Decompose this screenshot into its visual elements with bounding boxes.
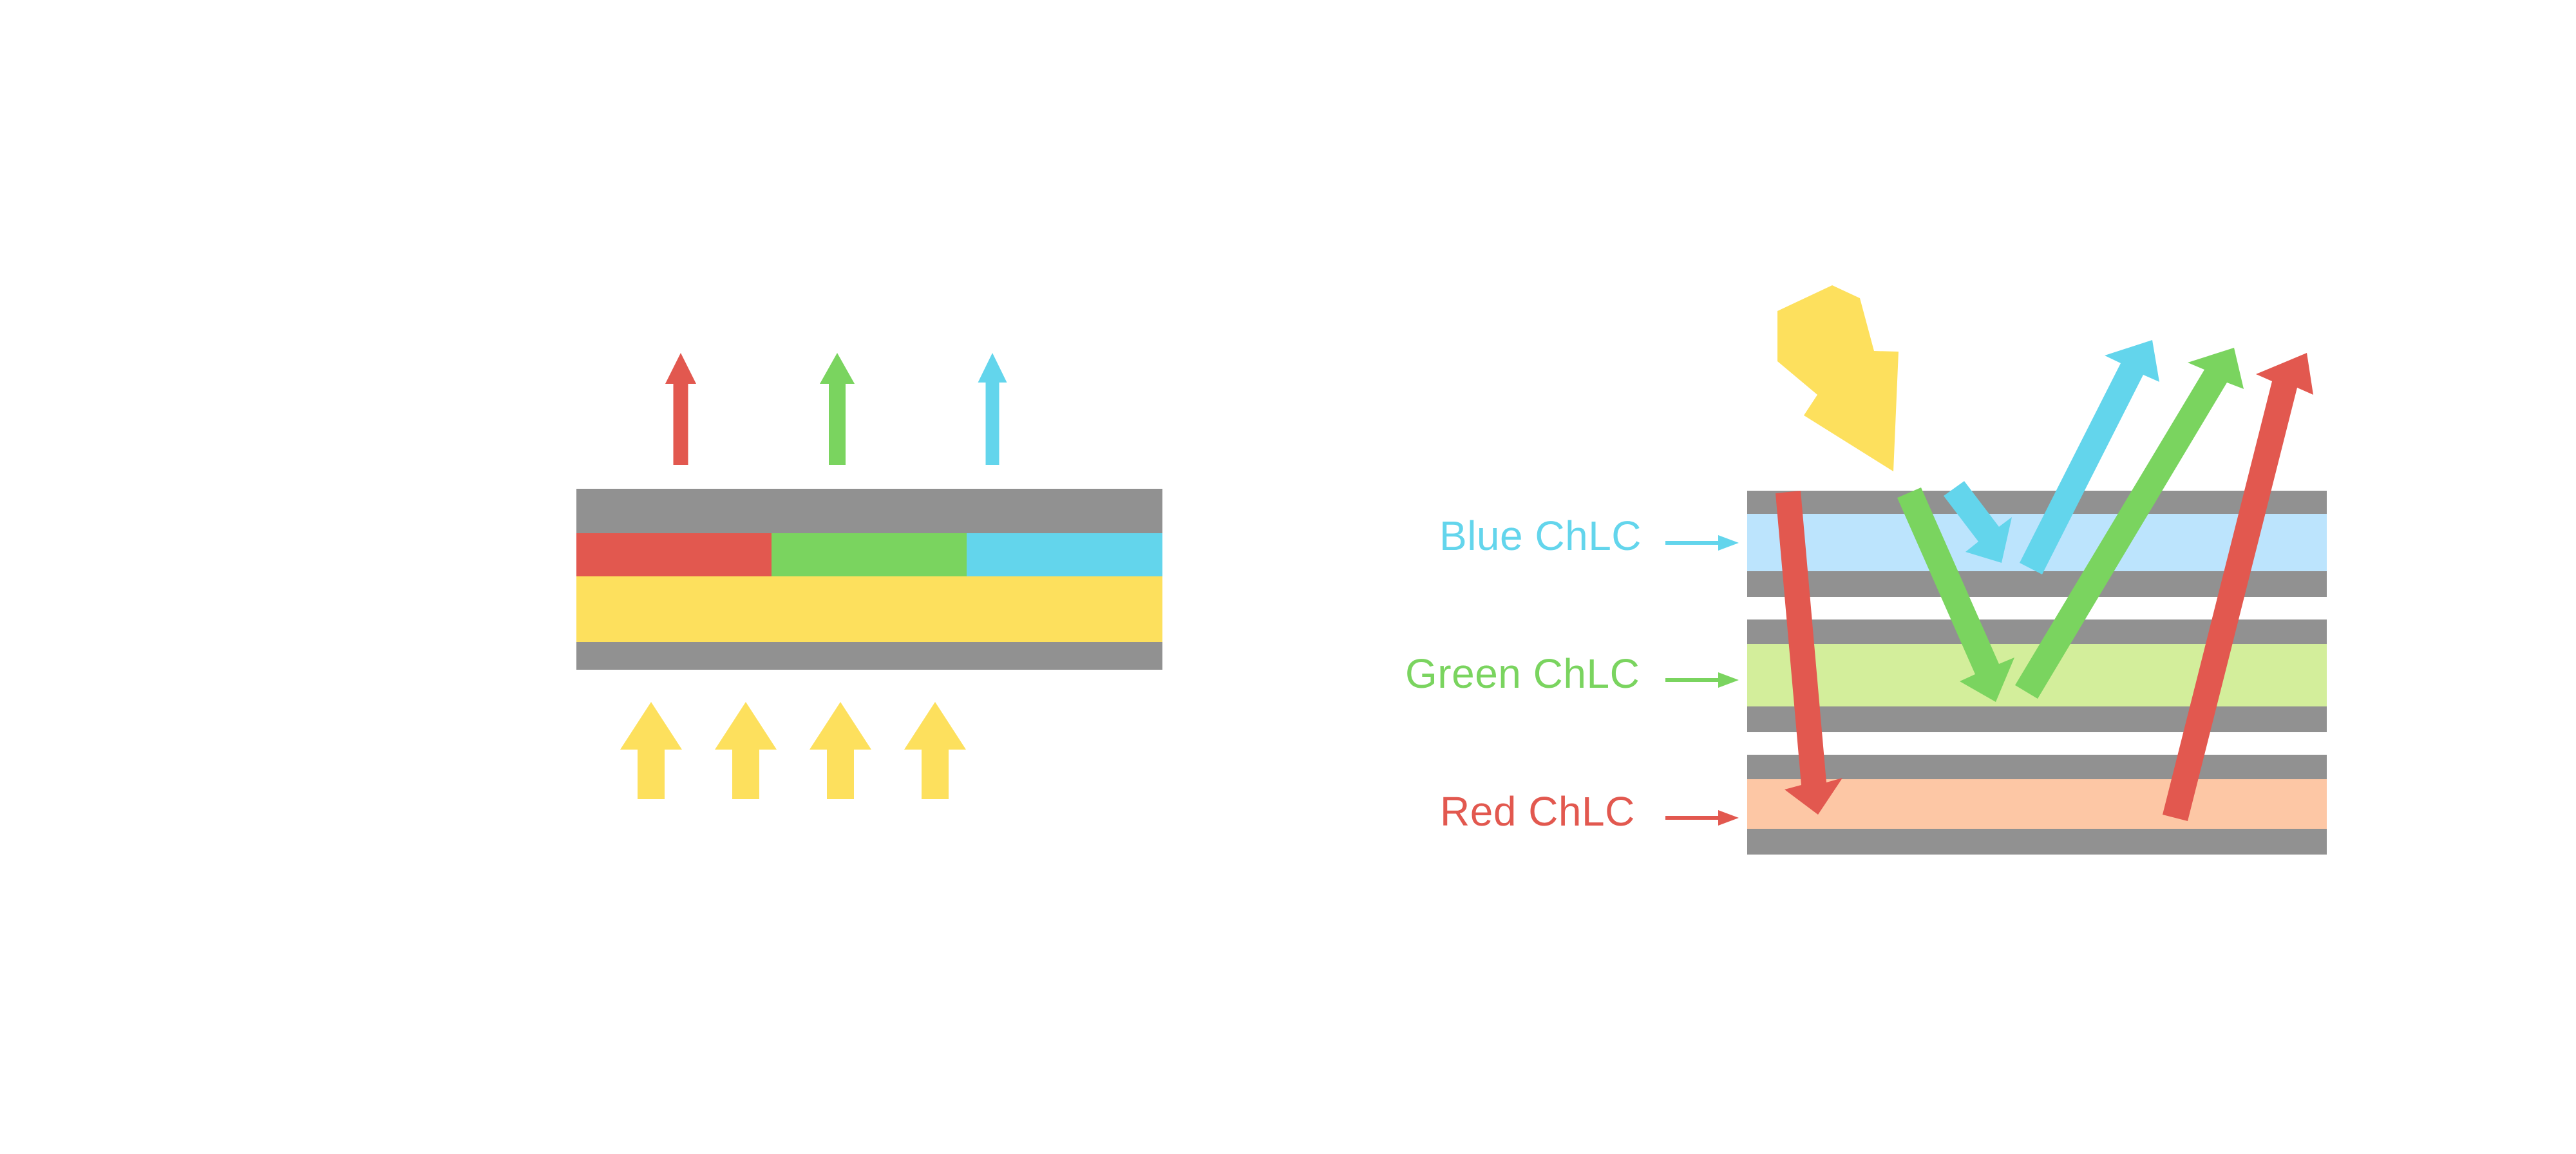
blue-chlc-label: Blue ChLC (1439, 515, 1642, 556)
layer-red-filter (576, 533, 772, 576)
emitted-red-arrow (665, 353, 696, 465)
layer-electrode-3 (1747, 620, 2327, 644)
right-panel-group (1665, 285, 2327, 855)
backlight-arrow-4 (904, 702, 966, 799)
blue-label-pointer-arrow (1665, 535, 1739, 551)
layer-electrode-5 (1747, 755, 2327, 779)
left-stack (576, 489, 1162, 670)
diagram-graphics (0, 0, 2576, 1154)
layer-electrode-6 (1747, 829, 2327, 855)
layer-yellow-backlight (576, 576, 1162, 642)
layer-top-electrode (576, 489, 1162, 533)
red-label-pointer-arrow (1665, 810, 1739, 826)
emitted-green-arrow (820, 353, 855, 465)
backlight-arrow-3 (810, 702, 871, 799)
layer-cyan-filter (967, 533, 1162, 576)
layer-gap-2 (1747, 732, 2327, 755)
backlight-arrow-2 (715, 702, 777, 799)
backlight-arrow-1 (620, 702, 682, 799)
layer-green-filter (772, 533, 967, 576)
incident-ambient-light-arrow (1777, 285, 1899, 471)
emitted-cyan-arrow (978, 353, 1007, 465)
diagram-canvas: Blue ChLC Green ChLC Red ChLC (0, 0, 2576, 1154)
left-panel-group (576, 353, 1162, 799)
layer-bottom-electrode (576, 642, 1162, 670)
red-chlc-label: Red ChLC (1440, 791, 1635, 832)
green-chlc-label: Green ChLC (1405, 653, 1640, 694)
green-label-pointer-arrow (1665, 672, 1739, 688)
layer-electrode-4 (1747, 706, 2327, 732)
